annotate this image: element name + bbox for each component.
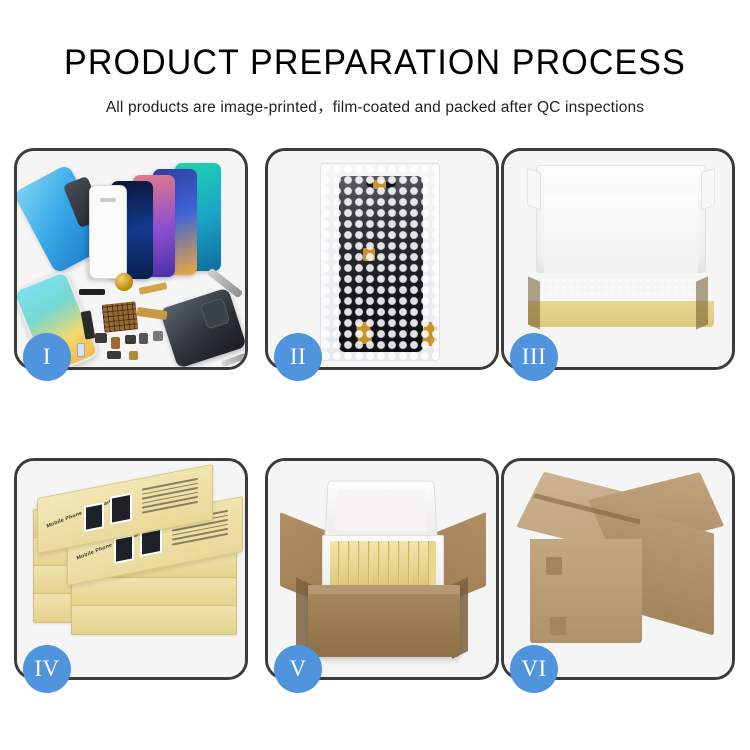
- component-glass-icon: [77, 343, 85, 357]
- screen-protector-icon: [89, 185, 127, 279]
- page-subtitle: All products are image-printed，film-coat…: [0, 95, 750, 117]
- box-left-edge: [528, 276, 540, 329]
- shipping-carton-open: [308, 585, 460, 657]
- process-step-panel-3: III: [501, 148, 735, 370]
- process-step-panel-4: Mobile Phone Spare Parts Mobile Phone Sp…: [14, 458, 248, 680]
- carton-tape-mark: [550, 617, 566, 635]
- component-black-icon: [125, 335, 136, 344]
- bag-seam: [321, 164, 439, 360]
- step-badge-6: VI: [510, 645, 558, 693]
- component-bar-icon: [107, 351, 121, 359]
- component-gray-icon: [139, 333, 148, 344]
- box-front-panel: [528, 301, 714, 327]
- phone-fan-group: [89, 163, 239, 281]
- box-label-screen-icon: [110, 493, 132, 525]
- carton-side-panel: [640, 512, 714, 635]
- carton-tape-mark: [546, 557, 562, 575]
- box-label-screen-icon: [114, 534, 134, 564]
- component-metal-icon: [153, 331, 163, 341]
- yellow-boxes-inside: [330, 541, 436, 585]
- process-step-panel-6: VI: [501, 458, 735, 680]
- step-badge-4: IV: [23, 645, 71, 693]
- box-label-screen-icon: [84, 502, 104, 532]
- product-preparation-process-page: PRODUCT PREPARATION PROCESS All products…: [0, 0, 750, 750]
- component-gold-icon: [111, 337, 120, 349]
- step-badge-5: V: [274, 645, 322, 693]
- process-step-panel-5: V: [265, 458, 499, 680]
- foam-lid-icon: [324, 481, 438, 542]
- carton-front-panel: [530, 539, 642, 643]
- bubble-wrap-bag: [320, 163, 440, 361]
- step-badge-2: II: [274, 333, 322, 381]
- box-stack: Mobile Phone Spare Parts Mobile Phone Sp…: [27, 475, 241, 671]
- stacked-box: [71, 577, 237, 607]
- step-badge-1: I: [23, 333, 71, 381]
- box-label-text: Mobile Phone Spare Parts: [46, 498, 115, 530]
- component-brass-icon: [129, 351, 138, 360]
- stacked-box: [71, 605, 237, 635]
- box-label-spec-lines: [142, 478, 198, 523]
- box-right-edge: [696, 276, 708, 329]
- process-step-panel-2: II: [265, 148, 499, 370]
- header: PRODUCT PREPARATION PROCESS All products…: [0, 0, 750, 117]
- process-steps-grid: I II: [14, 148, 738, 683]
- component-chip-icon: [95, 333, 107, 343]
- step-badge-3: III: [510, 333, 558, 381]
- page-title: PRODUCT PREPARATION PROCESS: [11, 45, 739, 80]
- process-step-panel-1: I: [14, 148, 248, 370]
- foam-sheet-icon: [544, 195, 698, 273]
